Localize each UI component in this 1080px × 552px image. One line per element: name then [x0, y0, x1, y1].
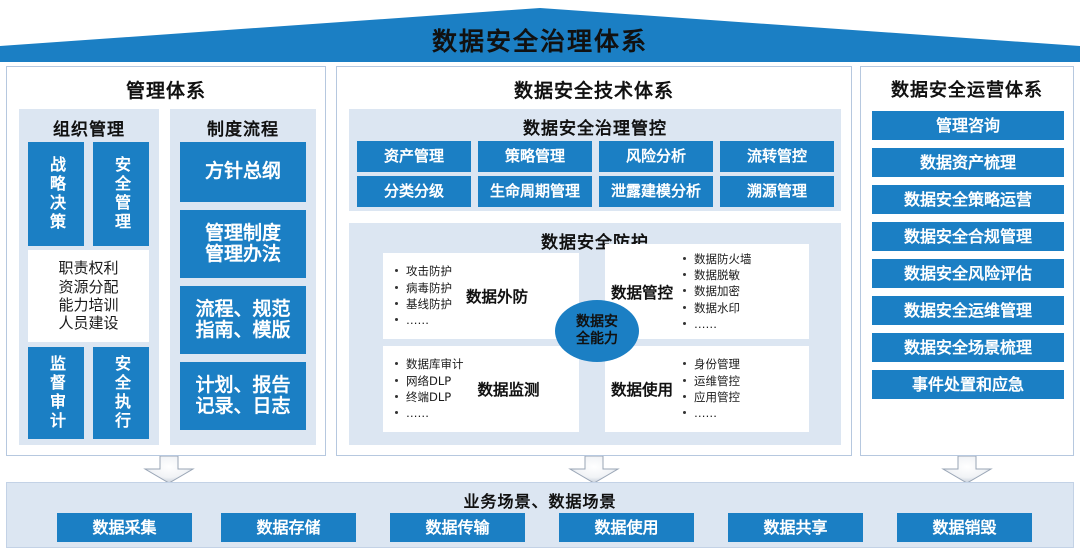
- center-capability-ellipse: 数据安全能力: [555, 300, 639, 362]
- quad-label-monitoring: 数据监测: [478, 378, 540, 400]
- gov-btn-lifecycle[interactable]: 生命周期管理: [478, 176, 592, 207]
- gov-btn-classification[interactable]: 分类分级: [357, 176, 471, 207]
- subpanel-protection: 数据安全防护 攻击防护 病毒防护 基线防护 …… 数据外防 数据管控 数据防火墙…: [349, 223, 841, 445]
- scenario-btn-usage[interactable]: 数据使用: [559, 513, 694, 542]
- subpanel-governance-title: 数据安全治理管控: [349, 114, 841, 139]
- scenario-btn-collection[interactable]: 数据采集: [57, 513, 192, 542]
- arrow-down-left-icon: [143, 456, 195, 484]
- bullet-item: 攻击防护: [395, 263, 452, 279]
- bullet-item: 数据防火墙: [683, 251, 752, 267]
- arrow-down-center-icon: [568, 456, 620, 484]
- subpanel-org-management: 组织管理 战略决策 安全管理 职责权利 资源分配 能力培训 人员建设 监督审计 …: [19, 109, 159, 445]
- ops-btn-risk-assessment[interactable]: 数据安全风险评估: [872, 259, 1064, 288]
- subpanel-process-title: 制度流程: [170, 115, 316, 140]
- org-box-security-mgmt[interactable]: 安全管理: [93, 142, 149, 246]
- panel-management-title: 管理体系: [7, 76, 325, 103]
- ops-btn-om-management[interactable]: 数据安全运维管理: [872, 296, 1064, 325]
- bullet-item: 运维管控: [683, 373, 740, 389]
- arrow-down-right-icon: [941, 456, 993, 484]
- gov-btn-asset-mgmt[interactable]: 资产管理: [357, 141, 471, 172]
- quad-bullets-monitoring: 数据库审计 网络DLP 终端DLP ……: [395, 356, 464, 421]
- bullet-item: ……: [683, 316, 752, 332]
- scenario-btn-destruction[interactable]: 数据销毁: [897, 513, 1032, 542]
- bullet-item: 病毒防护: [395, 280, 452, 296]
- org-responsibilities: 职责权利 资源分配 能力培训 人员建设: [28, 250, 149, 342]
- bottom-scenarios-bar: 业务场景、数据场景 数据采集 数据存储 数据传输 数据使用 数据共享 数据销毁: [6, 482, 1074, 548]
- bullet-item: 应用管控: [683, 389, 740, 405]
- org-box-strategy[interactable]: 战略决策: [28, 142, 84, 246]
- subpanel-governance: 数据安全治理管控 资产管理 策略管理 风险分析 流转管控 分类分级 生命周期管理…: [349, 109, 841, 211]
- scenario-btn-sharing[interactable]: 数据共享: [728, 513, 863, 542]
- panel-operations: 数据安全运营体系 管理咨询 数据资产梳理 数据安全策略运营 数据安全合规管理 数…: [860, 66, 1074, 456]
- quad-bullets-control: 数据防火墙 数据脱敏 数据加密 数据水印 ……: [683, 251, 752, 333]
- org-resp-item-3: 能力培训: [58, 296, 118, 314]
- bullet-item: 终端DLP: [395, 389, 464, 405]
- quad-label-data-control: 数据管控: [611, 281, 673, 303]
- scenario-btn-storage[interactable]: 数据存储: [221, 513, 356, 542]
- center-capability-label: 数据安全能力: [570, 314, 624, 348]
- scenarios-title: 业务场景、数据场景: [7, 488, 1073, 512]
- gov-btn-traceability[interactable]: 溯源管理: [720, 176, 834, 207]
- ops-btn-incident-response[interactable]: 事件处置和应急: [872, 370, 1064, 399]
- gov-btn-flow-control[interactable]: 流转管控: [720, 141, 834, 172]
- subpanel-org-title: 组织管理: [19, 115, 159, 140]
- quad-label-external-defense: 数据外防: [466, 285, 528, 307]
- quadrant-data-usage: 数据使用 身份管理 运维管控 应用管控 ……: [605, 346, 809, 432]
- panel-technical: 数据安全技术体系 数据安全治理管控 资产管理 策略管理 风险分析 流转管控 分类…: [336, 66, 852, 456]
- panel-operations-title: 数据安全运营体系: [861, 76, 1073, 102]
- subpanel-process: 制度流程 方针总纲 管理制度 管理办法 流程、规范 指南、模版 计划、报告 记录…: [170, 109, 316, 445]
- bullet-item: 数据库审计: [395, 356, 464, 372]
- ops-btn-scenario-inventory[interactable]: 数据安全场景梳理: [872, 333, 1064, 362]
- bullet-item: 基线防护: [395, 296, 452, 312]
- gov-btn-policy-mgmt[interactable]: 策略管理: [478, 141, 592, 172]
- quadrant-monitoring: 数据库审计 网络DLP 终端DLP …… 数据监测: [383, 346, 579, 432]
- bullet-item: 数据水印: [683, 300, 752, 316]
- bullet-item: ……: [683, 405, 740, 421]
- bullet-item: ……: [395, 405, 464, 421]
- org-box-audit[interactable]: 监督审计: [28, 347, 84, 439]
- quadrant-external-defense: 攻击防护 病毒防护 基线防护 …… 数据外防: [383, 253, 579, 339]
- ops-btn-policy-operation[interactable]: 数据安全策略运营: [872, 185, 1064, 214]
- process-box-regulations[interactable]: 管理制度 管理办法: [180, 210, 306, 278]
- quad-bullets-usage: 身份管理 运维管控 应用管控 ……: [683, 356, 740, 421]
- panel-technical-title: 数据安全技术体系: [337, 76, 851, 103]
- bullet-item: 身份管理: [683, 356, 740, 372]
- ops-btn-compliance[interactable]: 数据安全合规管理: [872, 222, 1064, 251]
- process-box-guides[interactable]: 流程、规范 指南、模版: [180, 286, 306, 354]
- ops-btn-asset-inventory[interactable]: 数据资产梳理: [872, 148, 1064, 177]
- org-resp-item-1: 职责权利: [58, 259, 118, 277]
- gov-btn-leak-modeling[interactable]: 泄露建模分析: [599, 176, 713, 207]
- panel-management: 管理体系 组织管理 战略决策 安全管理 职责权利 资源分配 能力培训 人员建设 …: [6, 66, 326, 456]
- scenario-btn-transmission[interactable]: 数据传输: [390, 513, 525, 542]
- bullet-item: ……: [395, 312, 452, 328]
- process-box-policy[interactable]: 方针总纲: [180, 142, 306, 202]
- bullet-item: 数据加密: [683, 283, 752, 299]
- process-box-records[interactable]: 计划、报告 记录、日志: [180, 362, 306, 430]
- page-title: 数据安全治理体系: [0, 28, 1080, 56]
- quad-bullets-external: 攻击防护 病毒防护 基线防护 ……: [395, 263, 452, 328]
- bullet-item: 网络DLP: [395, 373, 464, 389]
- bullet-item: 数据脱敏: [683, 267, 752, 283]
- title-banner: 数据安全治理体系: [0, 8, 1080, 62]
- org-resp-item-2: 资源分配: [58, 278, 118, 296]
- diagram-root: 数据安全治理体系 管理体系 组织管理 战略决策 安全管理 职责权利 资源分配 能…: [0, 0, 1080, 552]
- ops-btn-consulting[interactable]: 管理咨询: [872, 111, 1064, 140]
- org-resp-item-4: 人员建设: [58, 314, 118, 332]
- gov-btn-risk-analysis[interactable]: 风险分析: [599, 141, 713, 172]
- org-box-enforcement[interactable]: 安全执行: [93, 347, 149, 439]
- quad-label-data-usage: 数据使用: [611, 378, 673, 400]
